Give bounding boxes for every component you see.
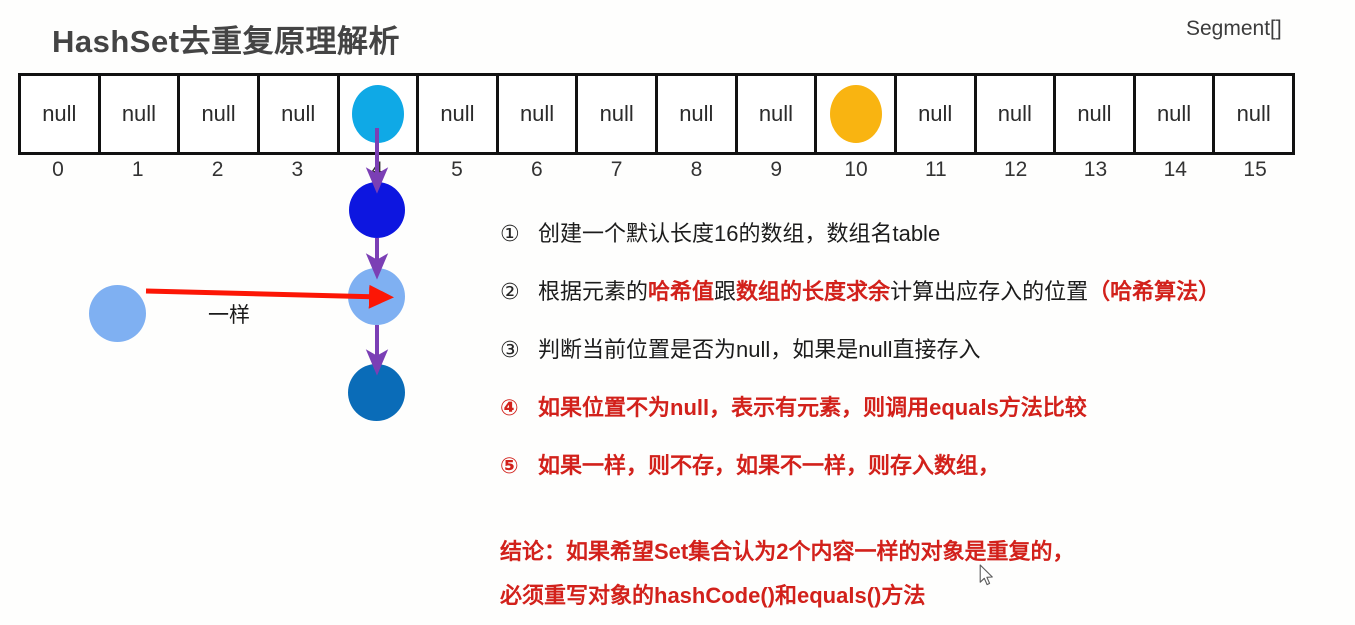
bucket-index-label-11: 11 <box>896 158 976 186</box>
bucket-null-label: null <box>201 101 235 127</box>
compare-arrow-label: 一样 <box>208 299 250 329</box>
bucket-cell-3[interactable]: null <box>260 76 340 152</box>
bucket-null-label: null <box>281 101 315 127</box>
bucket-null-label: null <box>520 101 554 127</box>
chain-node-3 <box>348 364 405 421</box>
bucket-index-label-2: 2 <box>178 158 258 186</box>
bucket-index-label-12: 12 <box>976 158 1056 186</box>
bucket-cell-10[interactable] <box>817 76 897 152</box>
bucket-index-label-1: 1 <box>98 158 178 186</box>
step-marker-1: ① <box>500 221 538 247</box>
step-text-4: 如果位置不为null，表示有元素，则调用equals方法比较 <box>538 390 1087 422</box>
chain-node-1 <box>349 182 405 238</box>
bucket-node-10 <box>830 85 882 143</box>
bucket-index-label-10: 10 <box>816 158 896 186</box>
hash-bucket-table: nullnullnullnullnullnullnullnullnullnull… <box>18 73 1295 155</box>
chain-node-2 <box>348 268 405 325</box>
segment-array-label: Segment[] <box>1186 17 1282 41</box>
step-text-run: 如果位置不为null，表示有元素，则调用equals方法比较 <box>538 395 1087 420</box>
step-marker-2: ② <box>500 279 538 305</box>
bucket-index-label-13: 13 <box>1056 158 1136 186</box>
bucket-index-label-9: 9 <box>736 158 816 186</box>
step-text-run: 如果一样，则不存，如果不一样，则存入数组， <box>538 453 1000 478</box>
bucket-cell-2[interactable]: null <box>180 76 260 152</box>
bucket-null-label: null <box>122 101 156 127</box>
bucket-cell-12[interactable]: null <box>977 76 1057 152</box>
bucket-cell-5[interactable]: null <box>419 76 499 152</box>
step-text-run: 哈希值 <box>648 279 714 304</box>
bucket-cell-11[interactable]: null <box>897 76 977 152</box>
bucket-null-label: null <box>1077 101 1111 127</box>
step-text-2: 根据元素的哈希值跟数组的长度求余计算出应存入的位置（哈希算法） <box>538 274 1220 306</box>
bucket-null-label: null <box>1237 101 1271 127</box>
bucket-cell-8[interactable]: null <box>658 76 738 152</box>
bucket-index-label-6: 6 <box>497 158 577 186</box>
bucket-null-label: null <box>759 101 793 127</box>
bucket-null-label: null <box>998 101 1032 127</box>
step-item-1: ①创建一个默认长度16的数组，数组名table <box>500 216 940 248</box>
bucket-cell-7[interactable]: null <box>578 76 658 152</box>
step-text-run: 数组的长度求余 <box>736 279 890 304</box>
step-text-run: （哈希算法） <box>1088 279 1220 304</box>
step-marker-5: ⑤ <box>500 453 538 479</box>
step-text-run: 计算出应存入的位置 <box>890 279 1088 304</box>
bucket-cell-15[interactable]: null <box>1215 76 1292 152</box>
bucket-cell-13[interactable]: null <box>1056 76 1136 152</box>
compare-arrow <box>146 291 381 297</box>
step-marker-4: ④ <box>500 395 538 421</box>
bucket-index-label-5: 5 <box>417 158 497 186</box>
step-item-3: ③判断当前位置是否为null，如果是null直接存入 <box>500 332 981 364</box>
bucket-index-label-0: 0 <box>18 158 98 186</box>
bucket-index-label-8: 8 <box>657 158 737 186</box>
step-marker-3: ③ <box>500 337 538 363</box>
bucket-index-label-3: 3 <box>257 158 337 186</box>
bucket-index-label-15: 15 <box>1215 158 1295 186</box>
step-item-5: ⑤如果一样，则不存，如果不一样，则存入数组， <box>500 448 1000 480</box>
bucket-null-label: null <box>600 101 634 127</box>
incoming-element-node <box>89 285 146 342</box>
bucket-null-label: null <box>440 101 474 127</box>
bucket-null-label: null <box>42 101 76 127</box>
bucket-null-label: null <box>679 101 713 127</box>
bucket-null-label: null <box>918 101 952 127</box>
step-text-run: 判断当前位置是否为null，如果是null直接存入 <box>538 337 981 362</box>
mouse-cursor-icon <box>979 564 995 588</box>
bucket-index-label-14: 14 <box>1135 158 1215 186</box>
bucket-cell-4[interactable] <box>340 76 420 152</box>
step-text-1: 创建一个默认长度16的数组，数组名table <box>538 216 940 248</box>
bucket-cell-0[interactable]: null <box>21 76 101 152</box>
bucket-cell-6[interactable]: null <box>499 76 579 152</box>
bucket-cell-14[interactable]: null <box>1136 76 1216 152</box>
bucket-cell-9[interactable]: null <box>738 76 818 152</box>
bucket-cell-1[interactable]: null <box>101 76 181 152</box>
step-text-3: 判断当前位置是否为null，如果是null直接存入 <box>538 332 981 364</box>
slide-canvas: HashSet去重复原理解析 Segment[] nullnullnullnul… <box>0 0 1355 625</box>
bucket-node-4 <box>352 85 404 143</box>
bucket-index-label-7: 7 <box>577 158 657 186</box>
step-text-run: 创建一个默认长度16的数组，数组名table <box>538 221 940 246</box>
step-text-run: 根据元素的 <box>538 279 648 304</box>
step-text-5: 如果一样，则不存，如果不一样，则存入数组， <box>538 448 1000 480</box>
step-item-4: ④如果位置不为null，表示有元素，则调用equals方法比较 <box>500 390 1087 422</box>
step-text-run: 跟 <box>714 279 736 304</box>
step-item-2: ②根据元素的哈希值跟数组的长度求余计算出应存入的位置（哈希算法） <box>500 274 1220 306</box>
bucket-index-row: 0123456789101112131415 <box>18 158 1295 186</box>
page-title: HashSet去重复原理解析 <box>52 16 400 61</box>
bucket-null-label: null <box>1157 101 1191 127</box>
